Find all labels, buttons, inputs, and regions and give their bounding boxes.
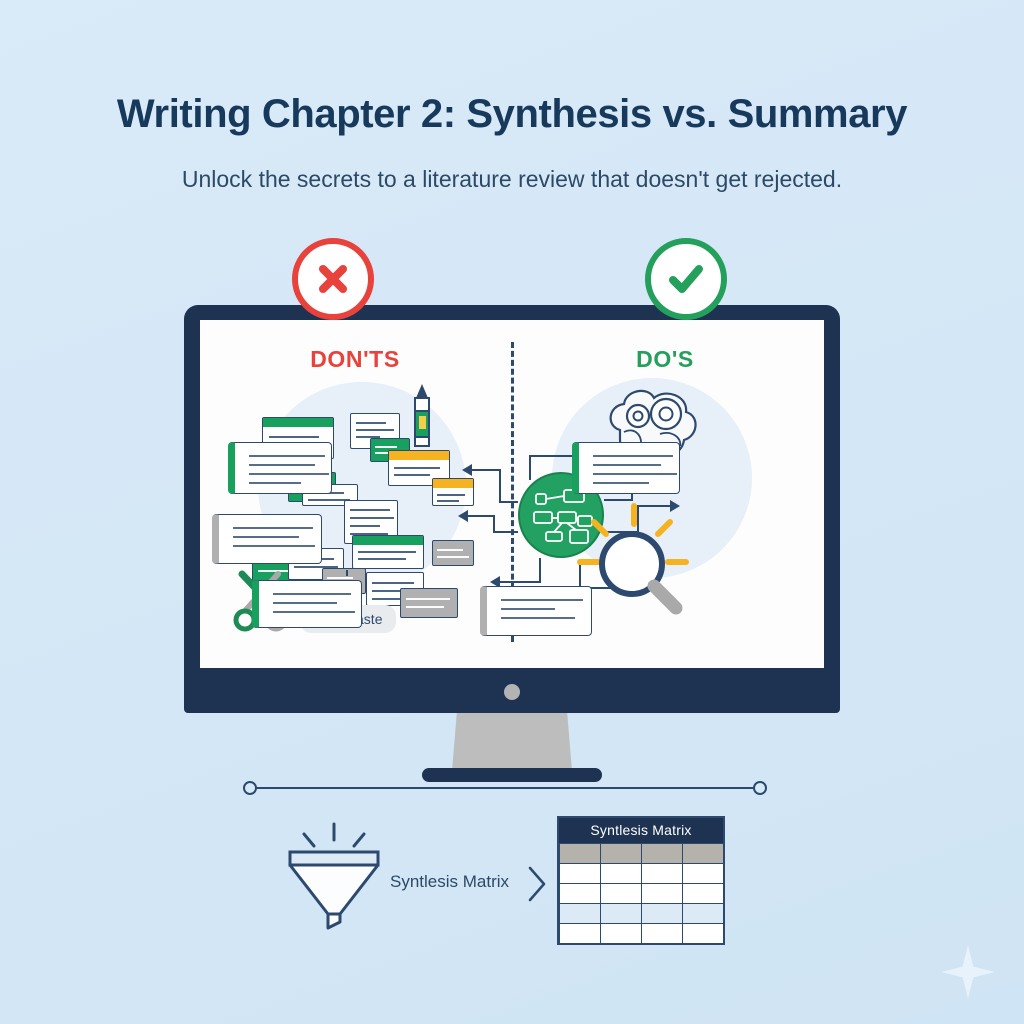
matrix-header-cell [641, 843, 683, 864]
funnel-to-matrix-label: Syntlesis Matrix [390, 872, 509, 892]
matrix-cell [682, 923, 724, 944]
monitor-stand-neck [452, 713, 572, 771]
matrix-header-cell [600, 843, 642, 864]
matrix-cell [559, 903, 601, 924]
matrix-cell [600, 923, 642, 944]
snippet-card [432, 478, 474, 506]
sparkle-icon [941, 945, 995, 999]
synthesis-node-card [572, 442, 680, 494]
do-panel-label: DO'S [550, 346, 780, 373]
matrix-cell [559, 863, 601, 884]
page-subtitle: Unlock the secrets to a literature revie… [0, 166, 1024, 193]
highlighter-pen-icon [409, 382, 435, 448]
matrix-cell [682, 883, 724, 904]
matrix-header-cell [682, 843, 724, 864]
matrix-cell [641, 923, 683, 944]
matrix-cell [559, 923, 601, 944]
matrix-grid [559, 843, 723, 943]
matrix-cell [682, 903, 724, 924]
synthesis-node-card [228, 442, 332, 494]
dont-panel-label: DON'TS [240, 346, 470, 373]
matrix-header-cell [559, 843, 601, 864]
cross-icon [312, 258, 354, 300]
matrix-cell [682, 863, 724, 884]
snippet-card [432, 540, 474, 566]
infographic-canvas: Writing Chapter 2: Synthesis vs. Summary… [0, 0, 1024, 1024]
snippet-card [352, 535, 424, 569]
matrix-cell [641, 863, 683, 884]
rail-connector-line [256, 787, 760, 789]
rail-endpoint-right [753, 781, 767, 795]
matrix-caption: Syntlesis Matrix [559, 818, 723, 843]
synthesis-node-card [252, 580, 362, 628]
matrix-cell [600, 883, 642, 904]
matrix-cell [600, 903, 642, 924]
funnel-icon [282, 822, 386, 930]
monitor-screen: DON'TS DO'S [200, 320, 824, 668]
synthesis-matrix-table: Syntlesis Matrix [557, 816, 725, 945]
matrix-cell [559, 883, 601, 904]
snippet-card [400, 588, 458, 618]
matrix-cell [641, 903, 683, 924]
synthesis-node-card [212, 514, 322, 564]
magnifier-icon [570, 500, 700, 630]
monitor-stand-base [422, 768, 602, 782]
check-icon [663, 256, 709, 302]
rail-endpoint-left [243, 781, 257, 795]
page-title: Writing Chapter 2: Synthesis vs. Summary [0, 92, 1024, 137]
matrix-cell [600, 863, 642, 884]
monitor-indicator-dot [504, 684, 520, 700]
check-badge [645, 238, 727, 320]
cross-badge [292, 238, 374, 320]
chevron-right-icon [524, 864, 550, 904]
matrix-cell [641, 883, 683, 904]
